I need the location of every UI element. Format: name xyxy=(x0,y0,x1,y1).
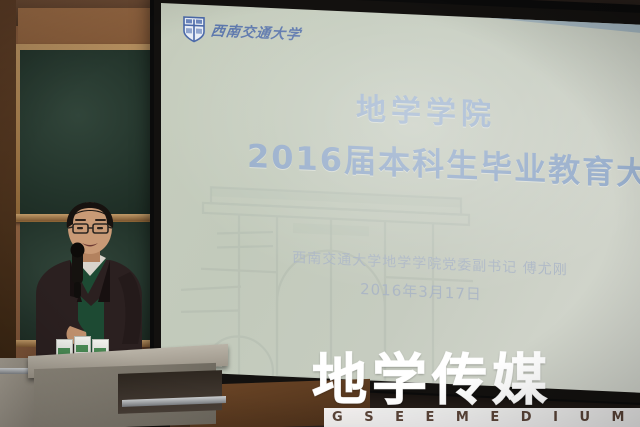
podium-shelf-cavity xyxy=(118,370,222,414)
watermark-english: G S E E M E D I U M xyxy=(332,410,633,425)
lecture-photo-scene: 西南交通大学 地学学院 2016届本科生毕业教育大会 西南交通大学地学学院党委副… xyxy=(0,0,640,427)
projection-screen: 西南交通大学 地学学院 2016届本科生毕业教育大会 西南交通大学地学学院党委副… xyxy=(161,3,640,393)
swjtu-shield-crest-icon xyxy=(183,16,205,43)
university-logo: 西南交通大学 xyxy=(183,16,301,47)
watermark-chinese: 地学传媒 xyxy=(312,352,640,408)
carton-label-2 xyxy=(76,345,88,352)
university-wordmark: 西南交通大学 xyxy=(209,20,302,44)
media-watermark: 地学传媒 G S E E M E D I U M xyxy=(312,352,640,426)
